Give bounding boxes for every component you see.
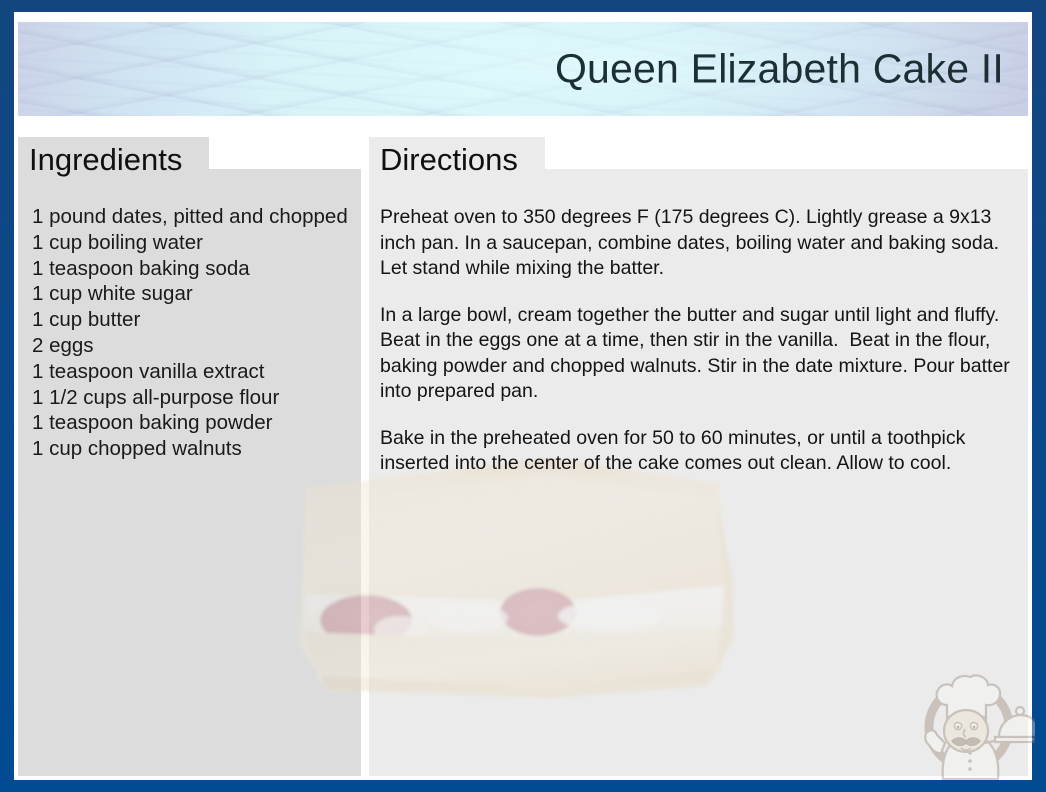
list-item: 1 cup chopped walnuts xyxy=(32,436,350,462)
list-item: 1 pound dates, pitted and chopped xyxy=(32,204,350,230)
page-title: Queen Elizabeth Cake II xyxy=(555,49,1004,90)
list-item: 1 cup white sugar xyxy=(32,281,350,307)
direction-step: In a large bowl, cream together the butt… xyxy=(380,303,1028,405)
recipe-card-page: Queen Elizabeth Cake II Ingredients Dire… xyxy=(0,0,1046,792)
list-item: 2 eggs xyxy=(32,333,350,359)
ingredients-section-tab: Ingredients xyxy=(18,137,209,182)
direction-step: Bake in the preheated oven for 50 to 60 … xyxy=(380,426,1028,477)
ingredients-heading: Ingredients xyxy=(29,144,182,175)
directions-steps: Preheat oven to 350 degrees F (175 degre… xyxy=(380,205,1028,477)
ingredients-list: 1 pound dates, pitted and chopped 1 cup … xyxy=(32,204,350,462)
list-item: 1 1/2 cups all-purpose flour xyxy=(32,385,350,411)
recipe-card: Queen Elizabeth Cake II Ingredients Dire… xyxy=(14,12,1032,780)
directions-section-tab: Directions xyxy=(369,137,545,182)
directions-heading: Directions xyxy=(380,144,518,175)
list-item: 1 cup boiling water xyxy=(32,230,350,256)
direction-step: Preheat oven to 350 degrees F (175 degre… xyxy=(380,205,1028,282)
list-item: 1 teaspoon vanilla extract xyxy=(32,359,350,385)
list-item: 1 teaspoon baking powder xyxy=(32,410,350,436)
header-banner: Queen Elizabeth Cake II xyxy=(18,22,1028,116)
list-item: 1 teaspoon baking soda xyxy=(32,256,350,282)
list-item: 1 cup butter xyxy=(32,307,350,333)
